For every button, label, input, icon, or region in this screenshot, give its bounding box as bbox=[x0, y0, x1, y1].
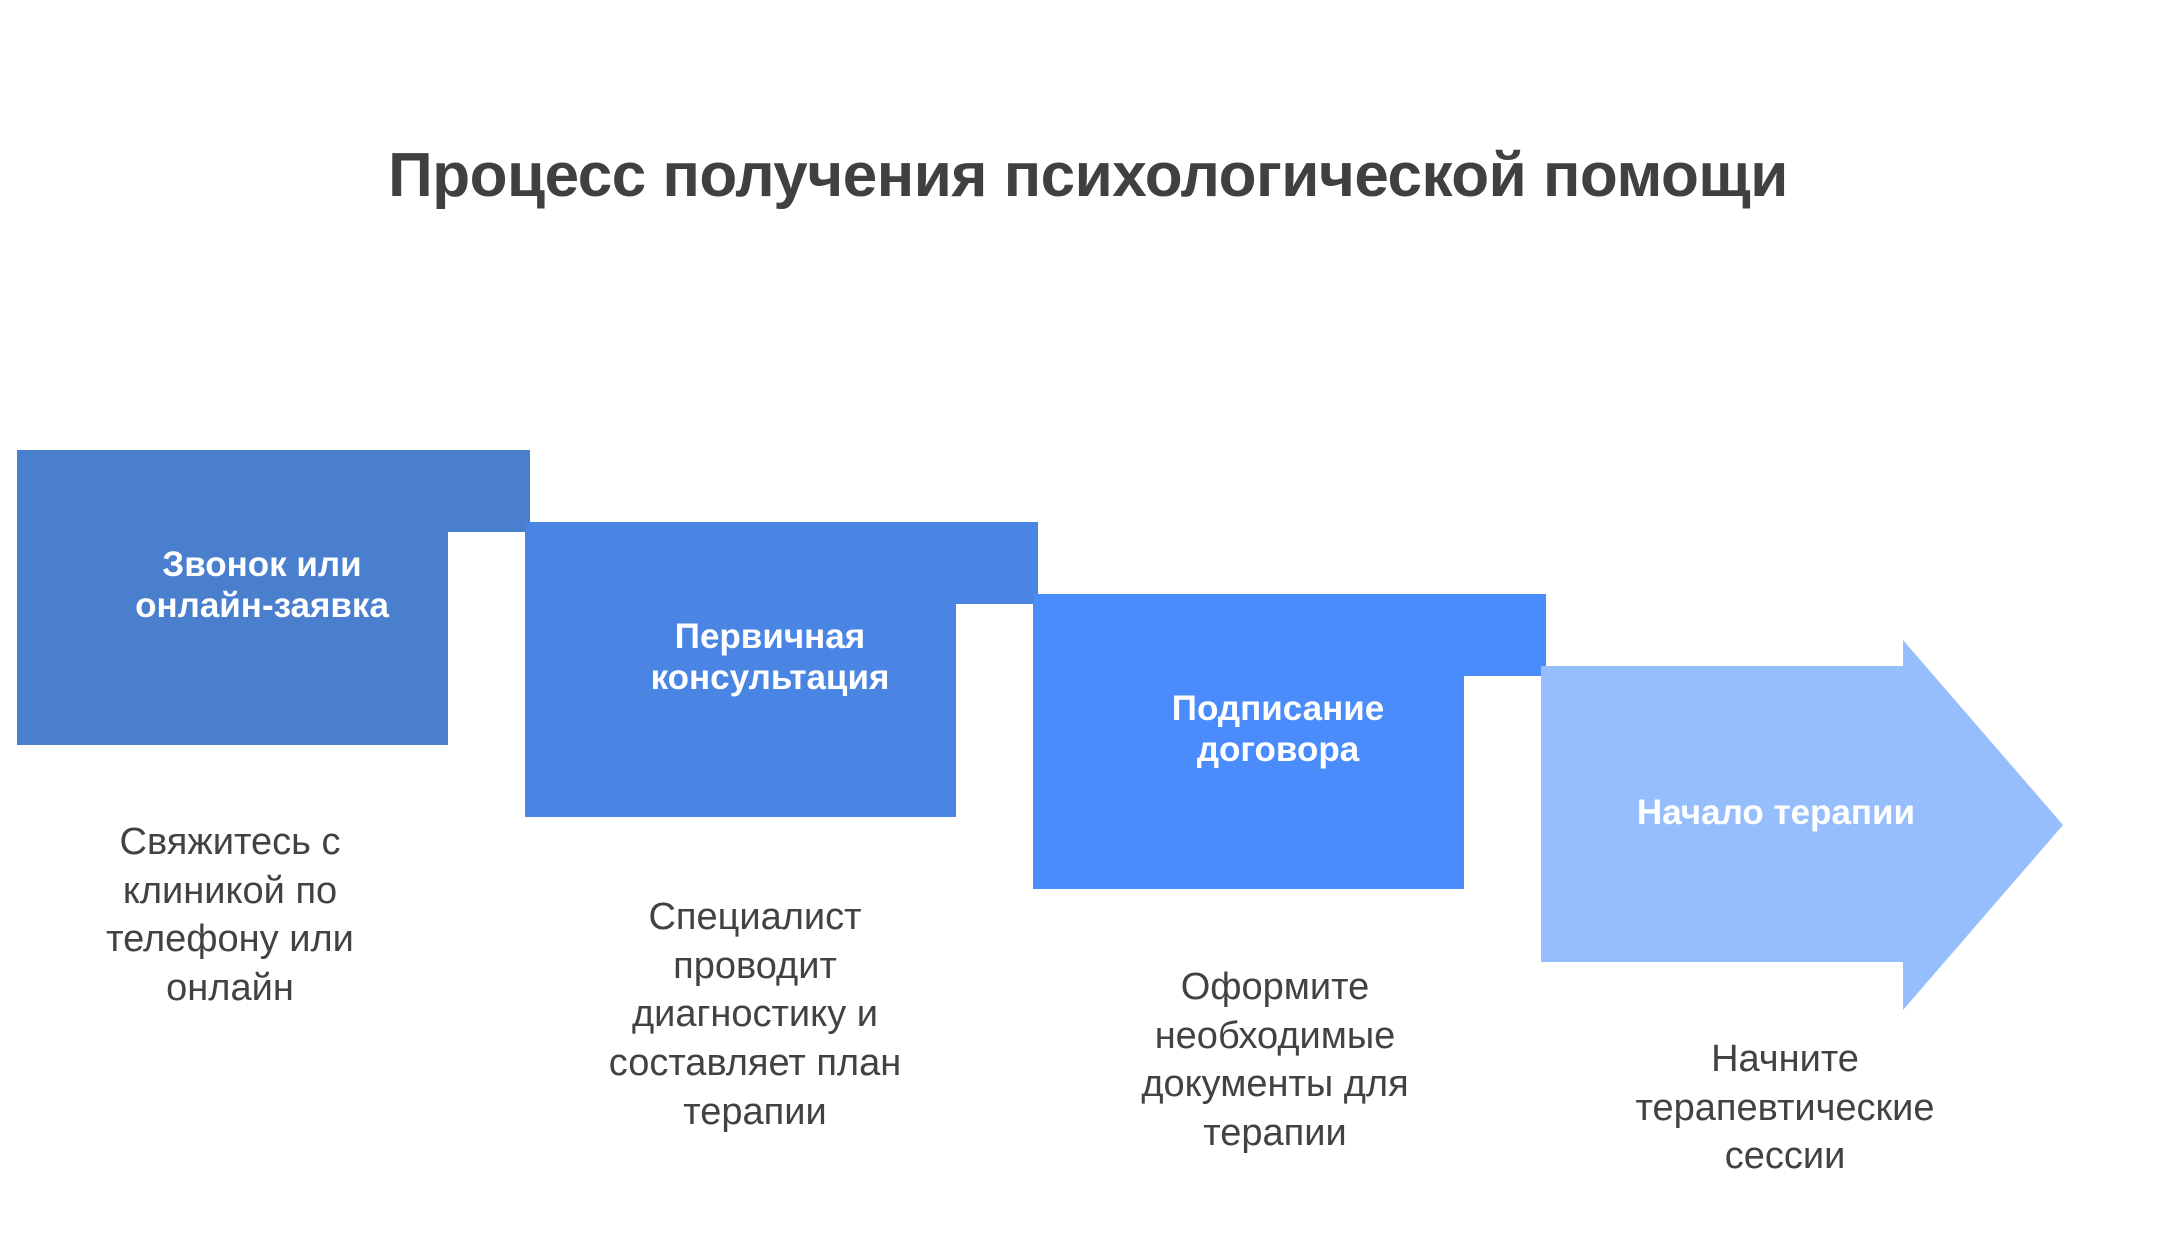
process-step-1[interactable] bbox=[17, 450, 530, 745]
slide-canvas: Процесс получения психологической помощи… bbox=[0, 0, 2176, 1256]
process-step-4[interactable] bbox=[1541, 640, 2063, 1010]
process-step-2[interactable] bbox=[525, 522, 1038, 817]
step-3-shape[interactable] bbox=[1033, 594, 1546, 889]
step-2-caption: Специалист проводит диагностику и состав… bbox=[545, 893, 965, 1136]
process-step-3[interactable] bbox=[1033, 594, 1546, 889]
step-4-arrow-shape[interactable] bbox=[1541, 640, 2063, 1010]
step-3-caption: Оформите необходимые документы для терап… bbox=[1060, 963, 1490, 1158]
step-1-caption: Свяжитесь с клиникой по телефону или онл… bbox=[30, 818, 430, 1013]
step-4-caption: Начните терапевтические сессии bbox=[1565, 1035, 2005, 1181]
step-2-shape[interactable] bbox=[525, 522, 1038, 817]
step-1-shape[interactable] bbox=[17, 450, 530, 745]
